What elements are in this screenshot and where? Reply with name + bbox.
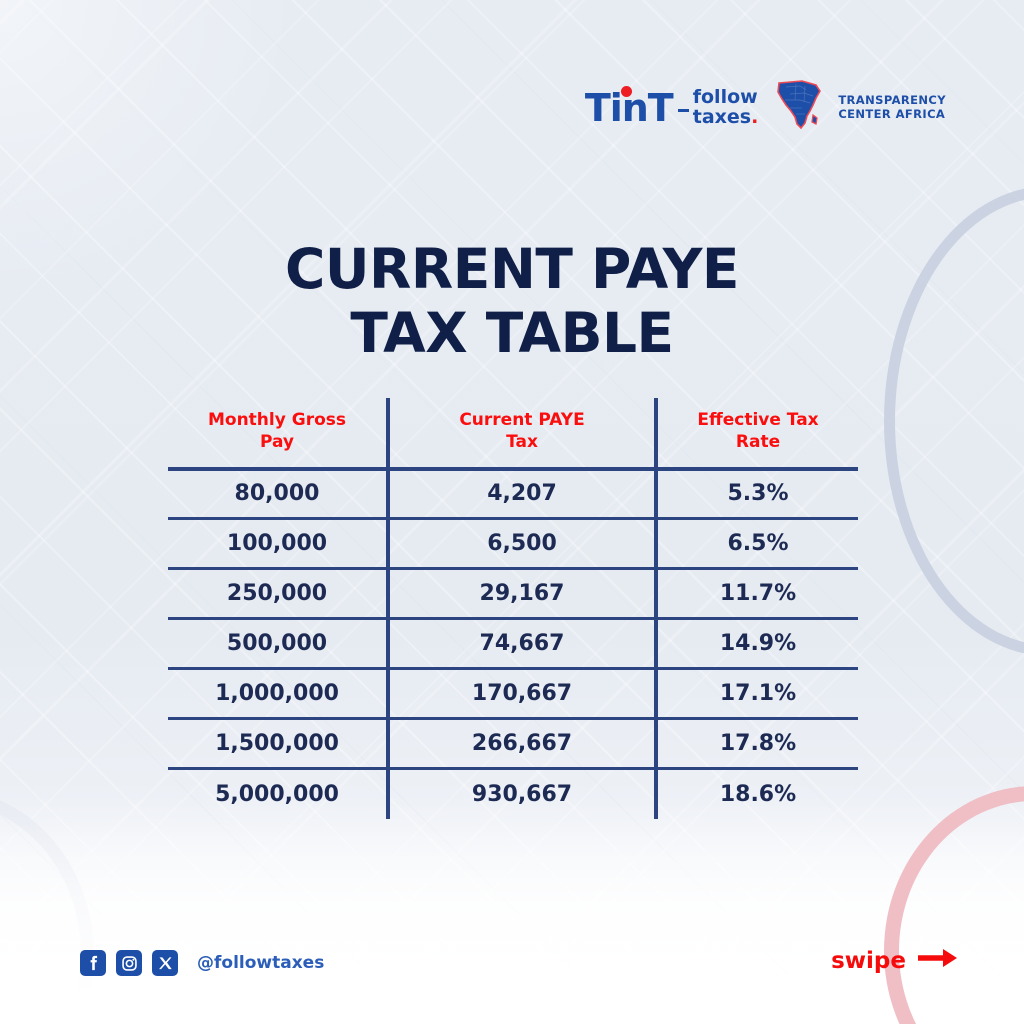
- cell-gross-pay: 80,000: [168, 469, 388, 519]
- instagram-icon[interactable]: [116, 950, 142, 976]
- page-title-line2: TAX TABLE: [0, 302, 1024, 366]
- transparency-center-africa-logo: TRANSPARENCY CENTER AFRICA: [772, 78, 946, 137]
- column-header-line1: Effective Tax: [697, 410, 818, 430]
- cell-effective-rate: 17.1%: [656, 669, 858, 719]
- cell-effective-rate: 6.5%: [656, 519, 858, 569]
- tint-tagline-line1: follow: [693, 88, 759, 107]
- paye-tax-table-wrapper: Monthly Gross Pay Current PAYE Tax Effec…: [168, 398, 858, 819]
- africa-map-icon: [772, 78, 830, 137]
- cell-paye-tax: 6,500: [388, 519, 656, 569]
- tint-logo: TinT follow taxes .: [585, 88, 759, 127]
- tint-wordmark: TinT: [585, 89, 673, 127]
- cell-effective-rate: 5.3%: [656, 469, 858, 519]
- tint-tagline-period: .: [751, 108, 758, 127]
- table-head: Monthly Gross Pay Current PAYE Tax Effec…: [168, 398, 858, 469]
- table-row: 1,000,000 170,667 17.1%: [168, 669, 858, 719]
- tca-line1: TRANSPARENCY: [838, 94, 946, 107]
- cell-paye-tax: 170,667: [388, 669, 656, 719]
- footer-social-group: @followtaxes: [80, 950, 324, 976]
- column-header-effective-tax-rate: Effective Tax Rate: [656, 398, 858, 469]
- table-row: 1,500,000 266,667 17.8%: [168, 719, 858, 769]
- column-header-current-paye-tax: Current PAYE Tax: [388, 398, 656, 469]
- cell-gross-pay: 500,000: [168, 619, 388, 669]
- page-title: CURRENT PAYE TAX TABLE: [0, 238, 1024, 366]
- arrow-right-icon: [916, 947, 960, 975]
- table-row: 250,000 29,167 11.7%: [168, 569, 858, 619]
- column-header-line2: Rate: [736, 432, 780, 452]
- red-dot-icon: [621, 86, 632, 97]
- x-twitter-icon[interactable]: [152, 950, 178, 976]
- column-header-line1: Monthly Gross: [208, 410, 346, 430]
- table-row: 100,000 6,500 6.5%: [168, 519, 858, 569]
- cell-paye-tax: 266,667: [388, 719, 656, 769]
- cell-paye-tax: 29,167: [388, 569, 656, 619]
- background-fade-bottom: [0, 794, 1024, 1024]
- cell-effective-rate: 14.9%: [656, 619, 858, 669]
- table-row: 80,000 4,207 5.3%: [168, 469, 858, 519]
- column-header-monthly-gross-pay: Monthly Gross Pay: [168, 398, 388, 469]
- cell-effective-rate: 18.6%: [656, 769, 858, 819]
- page-title-line1: CURRENT PAYE: [0, 238, 1024, 302]
- cell-gross-pay: 1,000,000: [168, 669, 388, 719]
- table-body: 80,000 4,207 5.3% 100,000 6,500 6.5% 250…: [168, 469, 858, 819]
- social-handle: @followtaxes: [197, 953, 324, 973]
- tint-tagline: follow taxes .: [693, 88, 759, 127]
- paye-tax-table: Monthly Gross Pay Current PAYE Tax Effec…: [168, 398, 858, 819]
- tca-line2: CENTER AFRICA: [838, 108, 946, 121]
- facebook-icon[interactable]: [80, 950, 106, 976]
- cell-effective-rate: 17.8%: [656, 719, 858, 769]
- column-header-line2: Pay: [260, 432, 294, 452]
- swipe-label: swipe: [831, 948, 906, 974]
- column-header-line2: Tax: [506, 432, 538, 452]
- cell-gross-pay: 1,500,000: [168, 719, 388, 769]
- table-row: 5,000,000 930,667 18.6%: [168, 769, 858, 819]
- cell-paye-tax: 930,667: [388, 769, 656, 819]
- infographic-canvas: TinT follow taxes .: [0, 0, 1024, 1024]
- logo-group: TinT follow taxes .: [585, 78, 946, 137]
- cell-effective-rate: 11.7%: [656, 569, 858, 619]
- table-row: 500,000 74,667 14.9%: [168, 619, 858, 669]
- cell-gross-pay: 5,000,000: [168, 769, 388, 819]
- column-header-line1: Current PAYE: [459, 410, 584, 430]
- table-header-row: Monthly Gross Pay Current PAYE Tax Effec…: [168, 398, 858, 469]
- tint-tagline-line2: taxes: [693, 108, 751, 127]
- tint-dash-divider: [678, 109, 689, 112]
- transparency-center-africa-text: TRANSPARENCY CENTER AFRICA: [838, 94, 946, 120]
- cell-paye-tax: 74,667: [388, 619, 656, 669]
- cell-gross-pay: 100,000: [168, 519, 388, 569]
- cell-paye-tax: 4,207: [388, 469, 656, 519]
- cell-gross-pay: 250,000: [168, 569, 388, 619]
- swipe-indicator[interactable]: swipe: [831, 947, 960, 975]
